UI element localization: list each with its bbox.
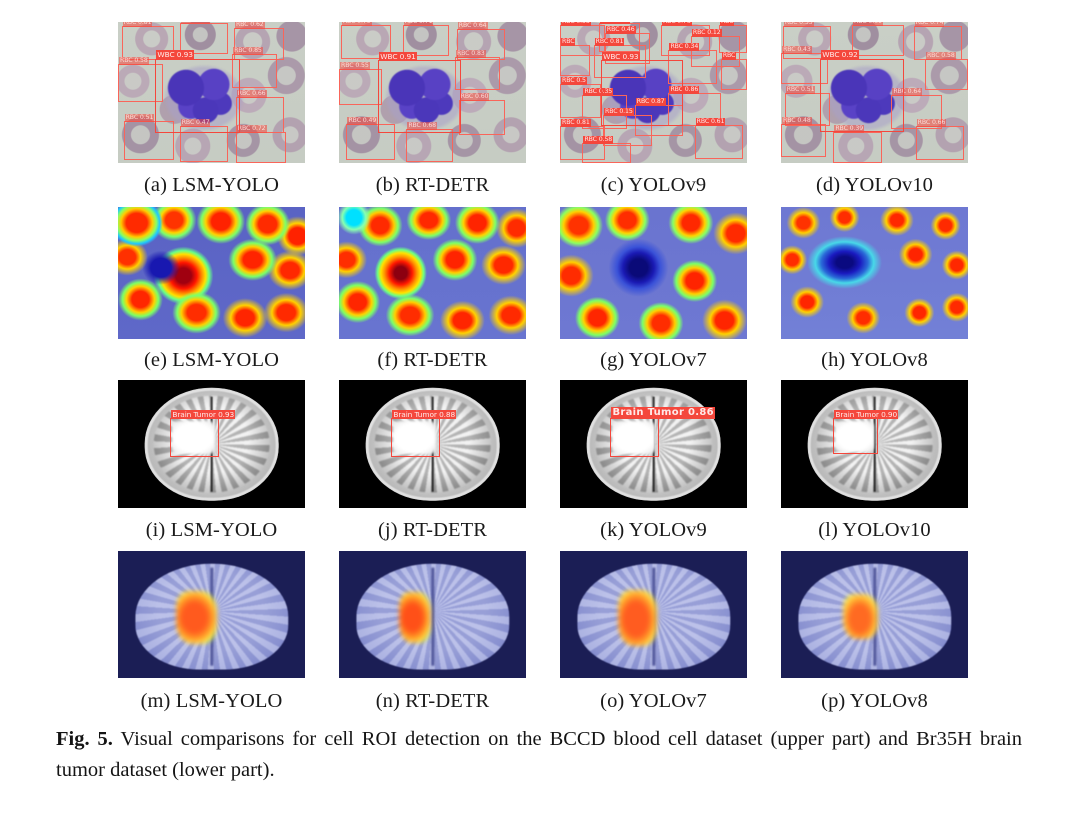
detection-label: RBC 0.51 [125, 114, 155, 122]
wbc-detection-label: WBC 0.92 [821, 50, 858, 60]
detection-label: RBC 0.58 [926, 52, 956, 60]
panel-row-4: (m) LSM-YOLO (n) RT-DETR [118, 551, 968, 712]
detection-box: RBC 0.83 [455, 57, 500, 89]
panel-k-image: Brain Tumor 0.86 [560, 380, 747, 508]
tumor-heat-region [399, 592, 431, 643]
detection-box: RBC 0.60 [459, 100, 506, 135]
tumor-detection-label: Brain Tumor 0.90 [834, 410, 898, 420]
detection-label: RBC 0.72 [237, 125, 267, 133]
panel-c-image: RBC 0.58 RBC 0.44 RBC 0.46 RBC 0.78 RBC … [560, 22, 747, 163]
detection-box: RBC 0.61 [852, 25, 904, 56]
panel-caption-a: (a) LSM-YOLO [118, 163, 305, 207]
panel-p: (p) YOLOv8 [781, 551, 968, 712]
wbc-detection-box: WBC 0.93 [601, 60, 683, 126]
wbc-detection-label: WBC 0.91 [379, 52, 416, 62]
detection-box: RBC 0.61 [695, 125, 744, 159]
detection-label: RBC 0.43 [782, 46, 812, 54]
panel-g: (g) YOLOv7 [560, 207, 747, 381]
detection-label: RBC 0.48 [782, 117, 812, 125]
panel-m-image [118, 551, 305, 678]
detection-label: RBC 0.34 [669, 43, 699, 51]
detection-box: RBC 0.66 [916, 126, 965, 160]
wbc-detection-label: WBC 0.93 [602, 52, 639, 62]
panel-e-image [118, 207, 305, 339]
detection-label: RBC 0.79 [342, 22, 372, 26]
detection-label: RBC 0.58 [119, 57, 149, 65]
detection-label: RBC 0.66 [237, 90, 267, 98]
panel-caption-i: (i) LSM-YOLO [118, 508, 305, 551]
panel-a: RBC 0.81 RBC 0.74 RBC 0.62 RBC 0.58 RBC … [118, 22, 305, 207]
panel-j: Brain Tumor 0.88 (j) RT-DETR [339, 380, 526, 551]
detection-label: RBC 0.55 [340, 62, 370, 70]
panel-k: Brain Tumor 0.86 (k) YOLOv9 [560, 380, 747, 551]
panel-caption-m: (m) LSM-YOLO [118, 678, 305, 712]
detection-label: RBC 0.5 [561, 77, 587, 85]
coronal-mri-background [781, 551, 968, 678]
detection-label: RBC 0.74 [181, 22, 211, 24]
panel-h-image [781, 207, 968, 339]
tumor-detection-box: Brain Tumor 0.93 [170, 418, 219, 456]
detection-box: RBC 0.58 [582, 143, 631, 163]
panel-b: RBC 0.79 RBC 0.71 RBC 0.64 RBC 0.55 RBC … [339, 22, 526, 207]
coronal-mri-background [560, 551, 747, 678]
panel-caption-e: (e) LSM-YOLO [118, 339, 305, 381]
heatmap-jet-background [339, 207, 526, 339]
detection-label: RBC 0.12 [692, 29, 722, 37]
panel-caption-g: (g) YOLOv7 [560, 339, 747, 381]
tumor-detection-box: Brain Tumor 0.90 [833, 418, 878, 454]
panel-d: RBC 0.55 RBC 0.61 RBC 0.74 RBC 0.43 RBC … [781, 22, 968, 207]
detection-label: RBC 0.58 [583, 136, 613, 144]
panel-a-image: RBC 0.81 RBC 0.74 RBC 0.62 RBC 0.58 RBC … [118, 22, 305, 163]
detection-box: RBC [721, 59, 747, 90]
panel-b-image: RBC 0.79 RBC 0.71 RBC 0.64 RBC 0.55 RBC … [339, 22, 526, 163]
detection-label: RBC 0.46 [606, 26, 636, 34]
figure-label: Fig. 5. [56, 728, 113, 750]
panel-caption-b: (b) RT-DETR [339, 163, 526, 207]
panel-caption-o: (o) YOLOv7 [560, 678, 747, 712]
panel-row-1: RBC 0.81 RBC 0.74 RBC 0.62 RBC 0.58 RBC … [118, 22, 968, 207]
detection-box: RBC 0.48 [781, 124, 826, 158]
tumor-detection-label: Brain Tumor 0.93 [171, 410, 235, 420]
heatmap-jet-background [781, 207, 968, 339]
coronal-mri-background [118, 551, 305, 678]
detection-label: RBC 0.55 [784, 22, 814, 27]
wbc-detection-box: WBC 0.93 [155, 59, 239, 134]
tumor-heat-region [176, 591, 217, 644]
detection-box: RBC 0.58 [925, 59, 968, 90]
detection-label: RBC 0.49 [347, 117, 377, 125]
wbc-detection-box: WBC 0.92 [820, 59, 904, 132]
detection-label: RBC 0.58 [561, 22, 591, 26]
figure-root: RBC 0.81 RBC 0.74 RBC 0.62 RBC 0.58 RBC … [0, 0, 1080, 816]
detection-box: RBC 0.39 [833, 132, 882, 163]
detection-label: RBC 0.61 [853, 22, 883, 26]
detection-box: RBC 0.55 [339, 69, 382, 106]
panel-g-image [560, 207, 747, 339]
detection-label: RBC 0.81 [595, 38, 625, 46]
detection-box: RBC 0.68 [406, 129, 453, 161]
panel-row-2: (e) LSM-YOLO (f) RT-DETR (g) YOLOv7 (h) … [118, 207, 968, 381]
panel-n: (n) RT-DETR [339, 551, 526, 712]
detection-label: RBC 0.85 [233, 47, 263, 55]
panel-caption-n: (n) RT-DETR [339, 678, 526, 712]
detection-label: RBC [561, 38, 575, 46]
panel-p-image [781, 551, 968, 678]
coronal-mri-background [339, 551, 526, 678]
panel-caption-k: (k) YOLOv9 [560, 508, 747, 551]
panel-i-image: Brain Tumor 0.93 [118, 380, 305, 508]
detection-label: RBC 0.44 [600, 22, 630, 24]
panel-caption-l: (l) YOLOv10 [781, 508, 968, 551]
wbc-detection-label: WBC 0.93 [156, 50, 193, 60]
panel-c: RBC 0.58 RBC 0.44 RBC 0.46 RBC 0.78 RBC … [560, 22, 747, 207]
detection-label: RBC 0.62 [235, 22, 265, 29]
panel-caption-c: (c) YOLOv9 [560, 163, 747, 207]
panel-caption-d: (d) YOLOv10 [781, 163, 968, 207]
detection-label: RBC 0.61 [696, 118, 726, 126]
panel-grid: RBC 0.81 RBC 0.74 RBC 0.62 RBC 0.58 RBC … [118, 22, 968, 711]
figure-caption: Fig. 5. Visual comparisons for cell ROI … [56, 724, 1022, 786]
tumor-heat-region [618, 590, 657, 646]
detection-label: RBC 0.83 [456, 50, 486, 58]
panel-o-image [560, 551, 747, 678]
detection-label: RBC 0.66 [917, 119, 947, 127]
tumor-detection-label: Brain Tumor 0.88 [392, 410, 456, 420]
panel-caption-h: (h) YOLOv8 [781, 339, 968, 381]
coronal-brain [356, 563, 509, 670]
detection-label: RBC 0.74 [915, 22, 945, 27]
tumor-heat-region [843, 594, 879, 640]
panel-j-image: Brain Tumor 0.88 [339, 380, 526, 508]
figure-caption-text: Visual comparisons for cell ROI detectio… [56, 728, 1022, 781]
panel-l: Brain Tumor 0.90 (l) YOLOv10 [781, 380, 968, 551]
detection-label: RBC 0.71 [404, 22, 434, 26]
detection-label: RBC 0.78 [662, 22, 692, 26]
panel-f: (f) RT-DETR [339, 207, 526, 381]
detection-label: RBC [720, 22, 734, 26]
tumor-detection-box: Brain Tumor 0.88 [391, 418, 440, 456]
panel-l-image: Brain Tumor 0.90 [781, 380, 968, 508]
panel-d-image: RBC 0.55 RBC 0.61 RBC 0.74 RBC 0.43 RBC … [781, 22, 968, 163]
panel-n-image [339, 551, 526, 678]
panel-row-3: Brain Tumor 0.93 (i) LSM-YOLO Brain Tumo… [118, 380, 968, 551]
detection-label: RBC 0.81 [561, 119, 591, 127]
panel-i: Brain Tumor 0.93 (i) LSM-YOLO [118, 380, 305, 551]
detection-box: RBC [560, 45, 590, 76]
tumor-detection-label: Brain Tumor 0.86 [611, 407, 714, 419]
detection-box: RBC 0.72 [236, 132, 286, 163]
panel-h: (h) YOLOv8 [781, 207, 968, 381]
detection-label: RBC 0.51 [786, 86, 816, 94]
wbc-detection-box: WBC 0.91 [378, 60, 460, 133]
detection-label: RBC 0.81 [123, 22, 153, 27]
detection-label: RBC [722, 52, 736, 60]
panel-caption-j: (j) RT-DETR [339, 508, 526, 551]
detection-label: RBC 0.60 [460, 93, 490, 101]
detection-label: RBC 0.64 [458, 22, 488, 30]
tumor-detection-box: Brain Tumor 0.86 [610, 418, 659, 456]
heatmap-jet-background [118, 207, 305, 339]
panel-e: (e) LSM-YOLO [118, 207, 305, 381]
panel-caption-f: (f) RT-DETR [339, 339, 526, 381]
heatmap-jet-background [560, 207, 747, 339]
panel-f-image [339, 207, 526, 339]
panel-caption-p: (p) YOLOv8 [781, 678, 968, 712]
panel-o: (o) YOLOv7 [560, 551, 747, 712]
panel-m: (m) LSM-YOLO [118, 551, 305, 712]
